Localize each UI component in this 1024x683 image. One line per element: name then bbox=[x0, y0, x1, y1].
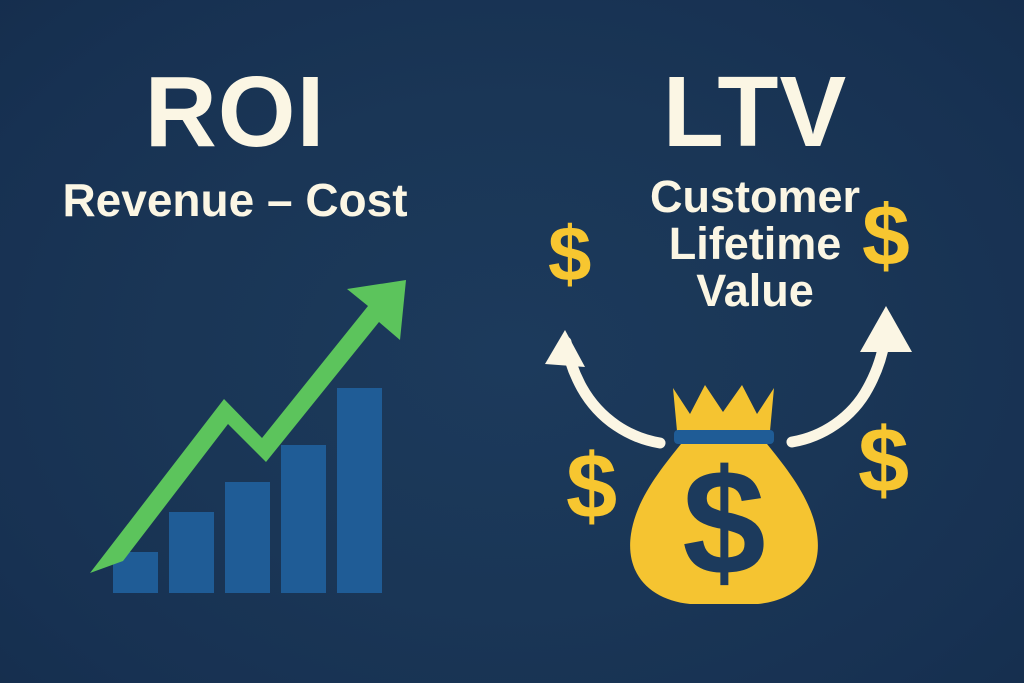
bar-2 bbox=[169, 512, 214, 593]
ltv-subtitle-line-3: Value bbox=[545, 268, 965, 315]
money-bag-dollar-symbol: $ bbox=[682, 438, 765, 606]
roi-headline: ROI bbox=[0, 62, 470, 162]
bar-5 bbox=[337, 388, 382, 593]
ltv-concept-panel: LTV Customer Lifetime Value bbox=[545, 62, 965, 314]
dollar-sign-lower-right: $ bbox=[858, 410, 909, 512]
bar-3 bbox=[225, 482, 270, 593]
dollar-sign-lower-left: $ bbox=[566, 436, 617, 538]
roi-subtitle: Revenue – Cost bbox=[0, 176, 470, 225]
money-bag-icon: $ bbox=[630, 385, 818, 606]
ltv-subtitle: Customer Lifetime Value bbox=[545, 174, 965, 314]
bar-1 bbox=[113, 552, 158, 593]
bar-chart-bars bbox=[113, 388, 382, 593]
curved-arrow-right-icon bbox=[792, 306, 912, 442]
ltv-headline: LTV bbox=[545, 62, 965, 162]
roi-concept-panel: ROI Revenue – Cost bbox=[0, 62, 470, 225]
ltv-subtitle-line-2: Lifetime bbox=[545, 221, 965, 268]
bar-4 bbox=[281, 445, 326, 593]
ltv-subtitle-line-1: Customer bbox=[545, 174, 965, 221]
curved-arrow-left-icon bbox=[545, 330, 660, 443]
infographic-canvas: ROI Revenue – Cost LTV Customer Lifetime… bbox=[0, 0, 1024, 683]
growth-arrow-icon bbox=[90, 280, 406, 573]
